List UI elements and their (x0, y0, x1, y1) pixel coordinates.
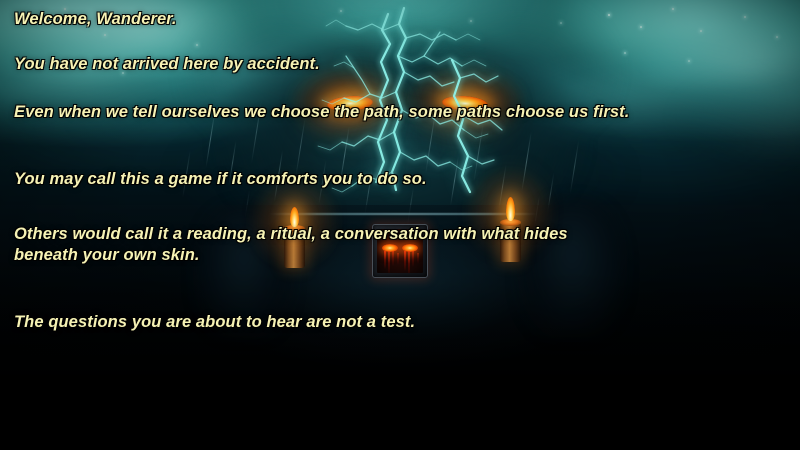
narration-line-3: Even when we tell ourselves we choose th… (14, 102, 786, 123)
narration-line-7: The questions you are about to hear are … (14, 312, 786, 333)
narration-line-2: You have not arrived here by accident. (14, 54, 786, 75)
narration-line-1: Welcome, Wanderer. (14, 9, 786, 30)
narration-line-4: You may call this a game if it comforts … (14, 169, 786, 190)
game-intro-scene: Welcome, Wanderer. You have not arrived … (0, 0, 800, 450)
narration-line-6: beneath your own skin. (14, 245, 786, 266)
narration-text-block: Welcome, Wanderer. You have not arrived … (0, 0, 800, 333)
narration-line-5: Others would call it a reading, a ritual… (14, 224, 786, 245)
